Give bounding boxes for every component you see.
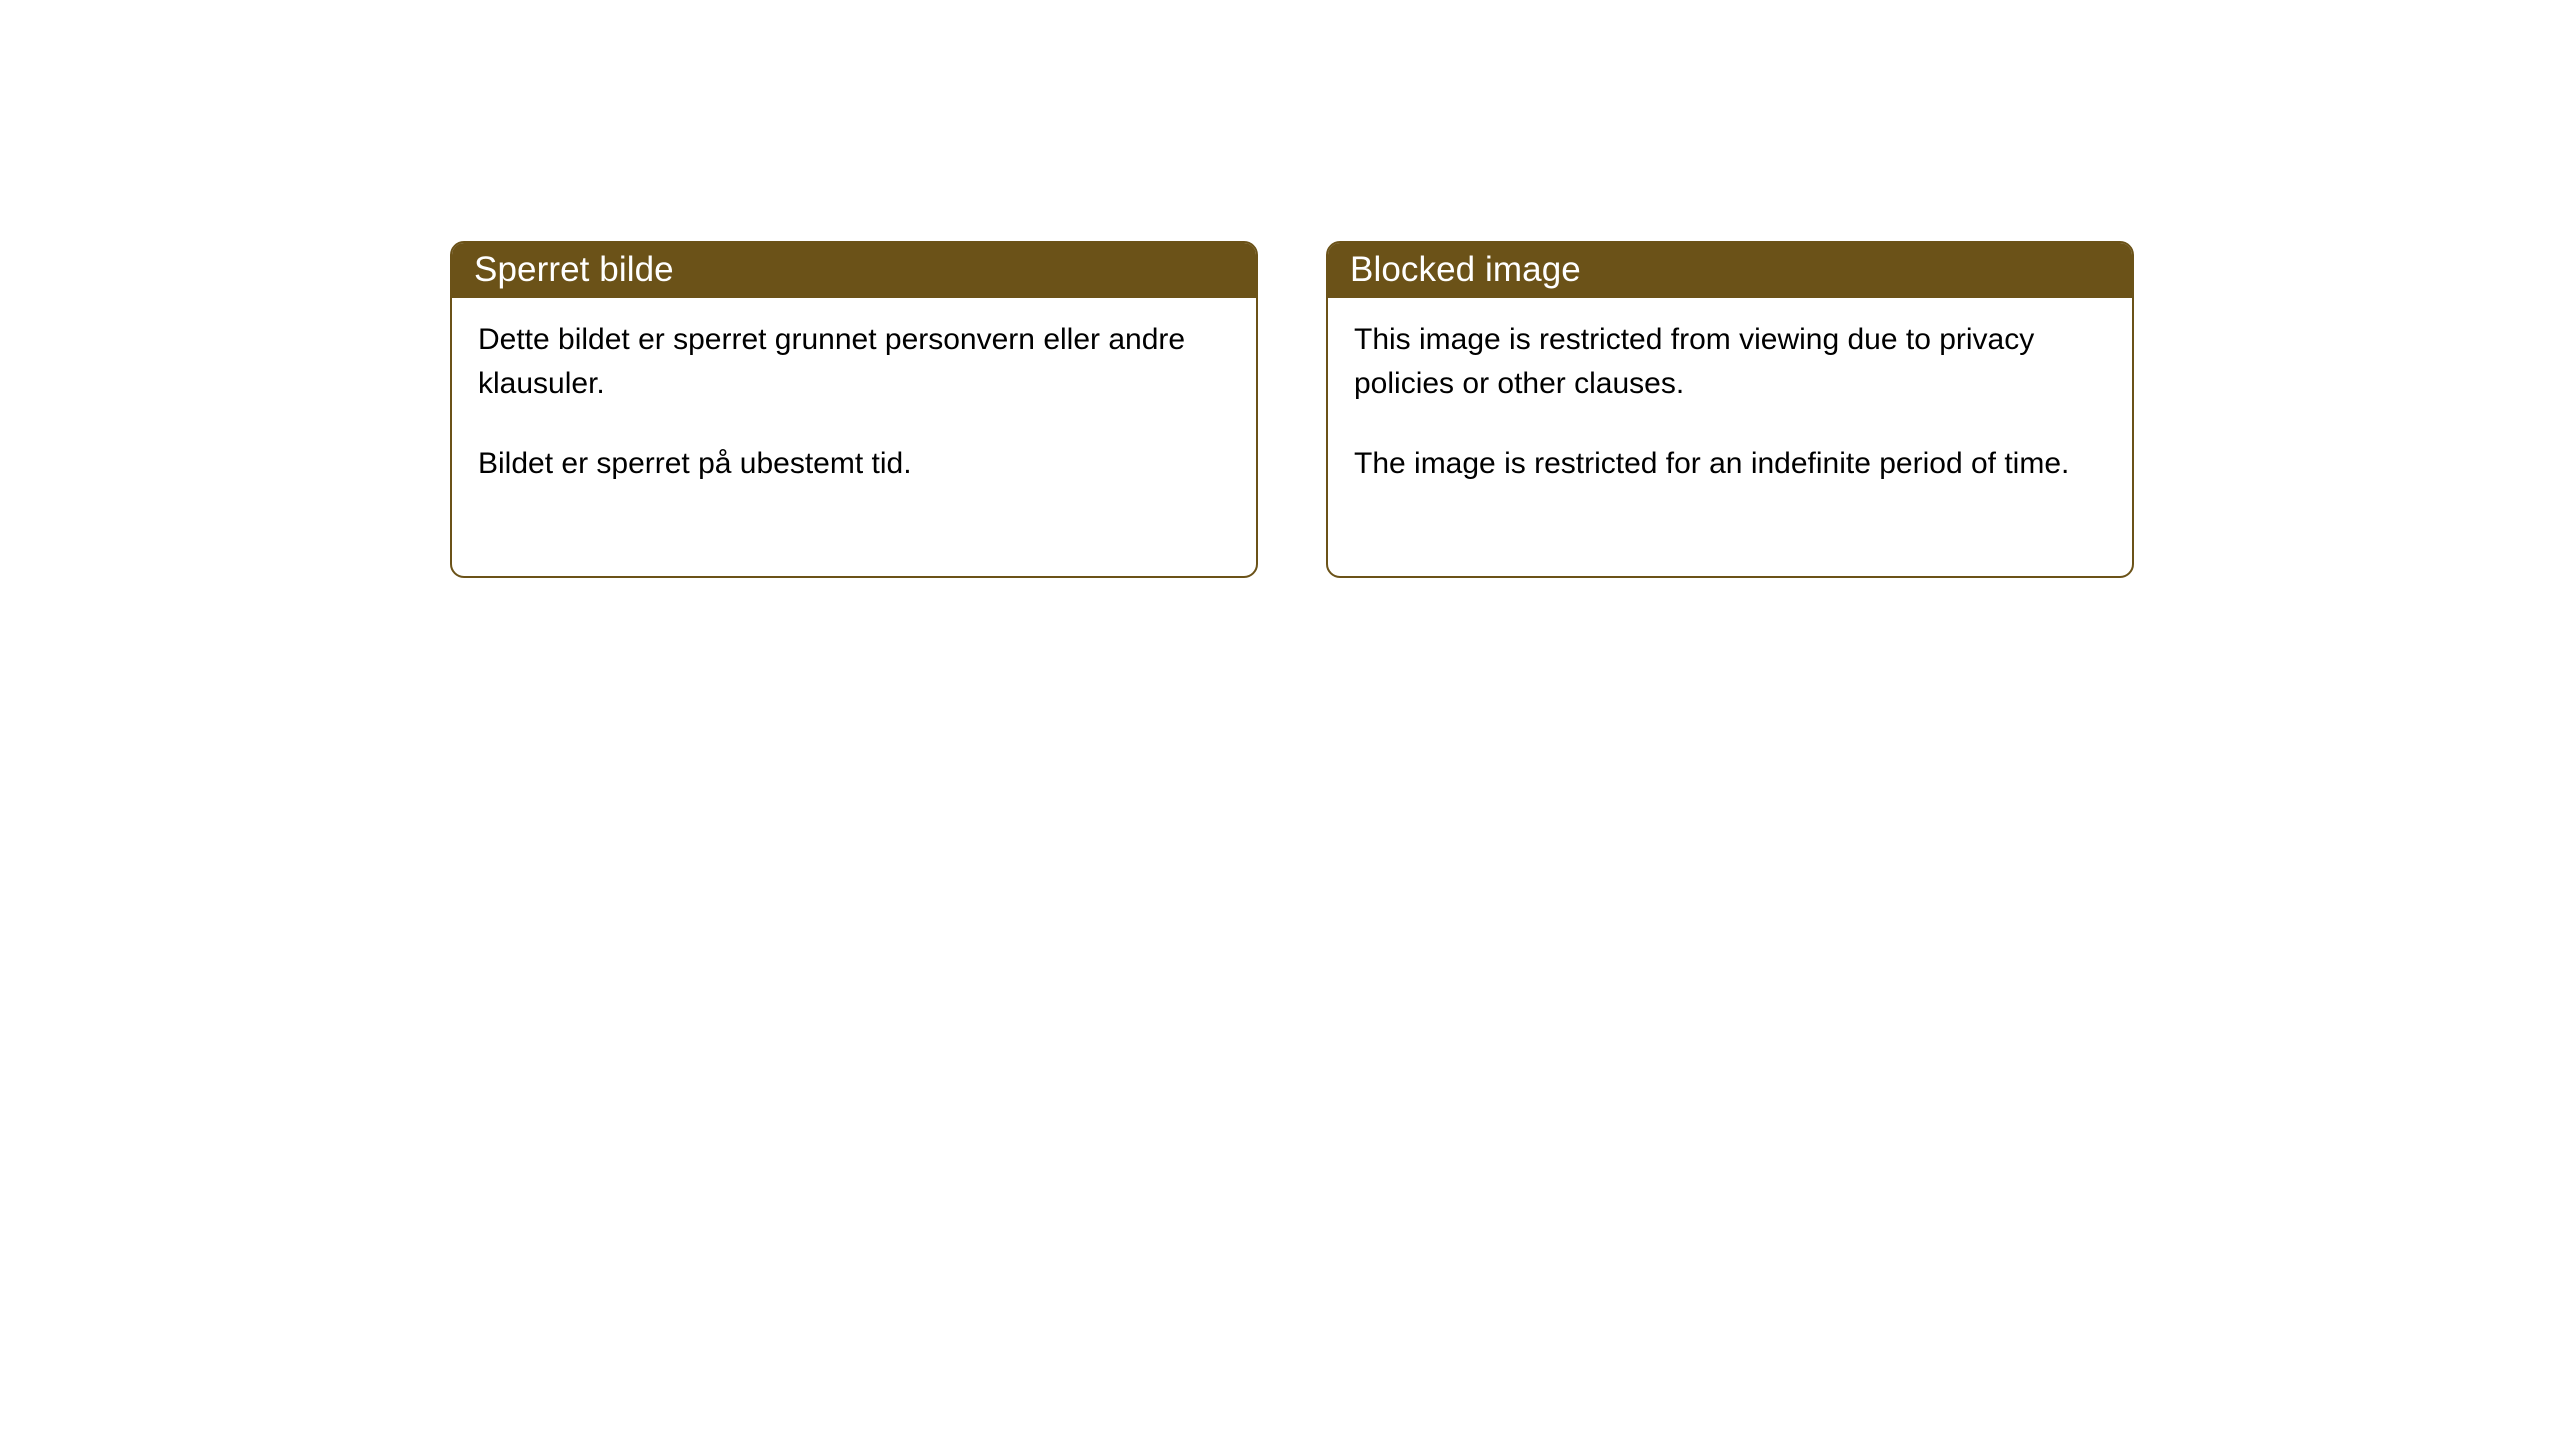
panel-paragraph-duration-english: The image is restricted for an indefinit… bbox=[1354, 442, 2106, 486]
blocked-image-notice-container: Sperret bilde Dette bildet er sperret gr… bbox=[450, 241, 2134, 578]
panel-body-norwegian: Dette bildet er sperret grunnet personve… bbox=[452, 298, 1256, 576]
panel-title-norwegian: Sperret bilde bbox=[474, 252, 674, 287]
panel-paragraph-duration-norwegian: Bildet er sperret på ubestemt tid. bbox=[478, 442, 1230, 486]
blocked-image-panel-norwegian: Sperret bilde Dette bildet er sperret gr… bbox=[450, 241, 1258, 578]
panel-title-english: Blocked image bbox=[1350, 252, 1581, 287]
panel-body-english: This image is restricted from viewing du… bbox=[1328, 298, 2132, 576]
panel-paragraph-reason-norwegian: Dette bildet er sperret grunnet personve… bbox=[478, 318, 1230, 406]
panel-paragraph-reason-english: This image is restricted from viewing du… bbox=[1354, 318, 2106, 406]
panel-header-norwegian: Sperret bilde bbox=[450, 241, 1258, 298]
panel-header-english: Blocked image bbox=[1326, 241, 2134, 298]
blocked-image-panel-english: Blocked image This image is restricted f… bbox=[1326, 241, 2134, 578]
